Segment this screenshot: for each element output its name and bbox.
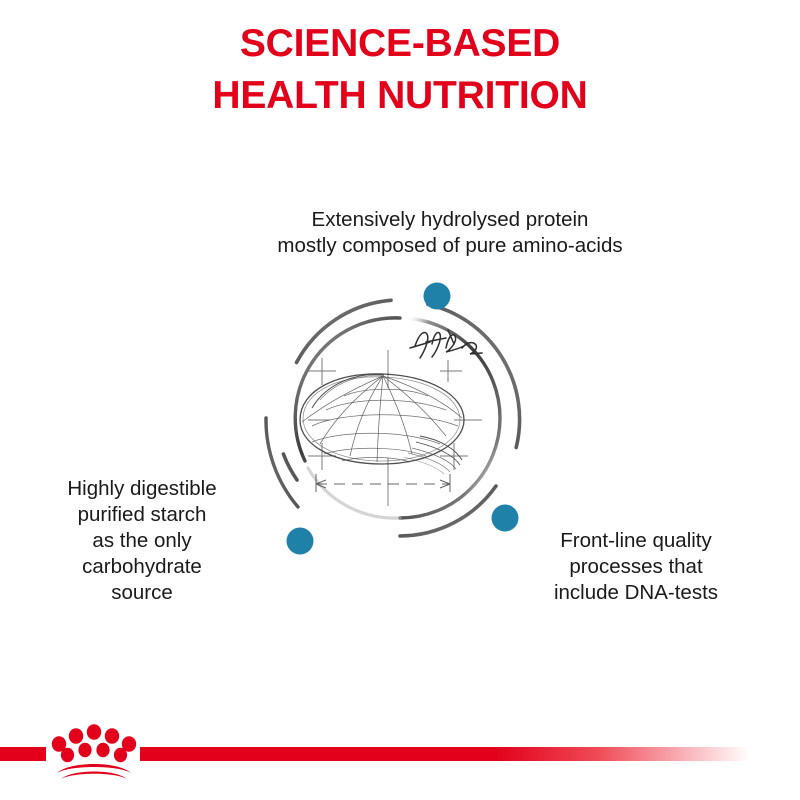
callout-right-line-1: Front-line quality [514,528,758,554]
benefit-dot-bottom-right[interactable] [492,505,519,532]
kibble-technical-sketch-icon [300,330,482,506]
page-title-line-2: HEALTH NUTRITION [0,70,800,122]
callout-left-line-1: Highly digestible [22,476,262,502]
royal-canin-crown-icon [48,722,140,780]
outer-ring [266,300,520,536]
callout-left-line-5: source [22,580,262,606]
product-feature-panel: SCIENCE-BASED HEALTH NUTRITION Extensive… [0,0,800,800]
callout-left-line-2: purified starch [22,502,262,528]
callout-left-line-3: as the only [22,528,262,554]
callout-right-line-2: processes that [514,554,758,580]
callout-top-line-2: mostly composed of pure amino-acids [200,233,700,259]
callout-left: Highly digestible purified starch as the… [22,476,262,606]
callout-left-line-4: carbohydrate [22,554,262,580]
benefit-dot-top[interactable] [424,283,451,310]
footer-bar-right [140,747,750,761]
benefit-dot-bottom-left[interactable] [287,528,314,555]
handwritten-annotation-icon [410,330,482,358]
page-title: SCIENCE-BASED HEALTH NUTRITION [0,18,800,122]
callout-right-line-3: include DNA-tests [514,580,758,606]
callout-top-line-1: Extensively hydrolysed protein [200,207,700,233]
benefit-ring-diagram [250,268,550,568]
page-title-line-1: SCIENCE-BASED [0,18,800,70]
callout-top: Extensively hydrolysed protein mostly co… [200,207,700,259]
callout-right: Front-line quality processes that includ… [514,528,758,606]
footer-bar-left [0,747,46,761]
